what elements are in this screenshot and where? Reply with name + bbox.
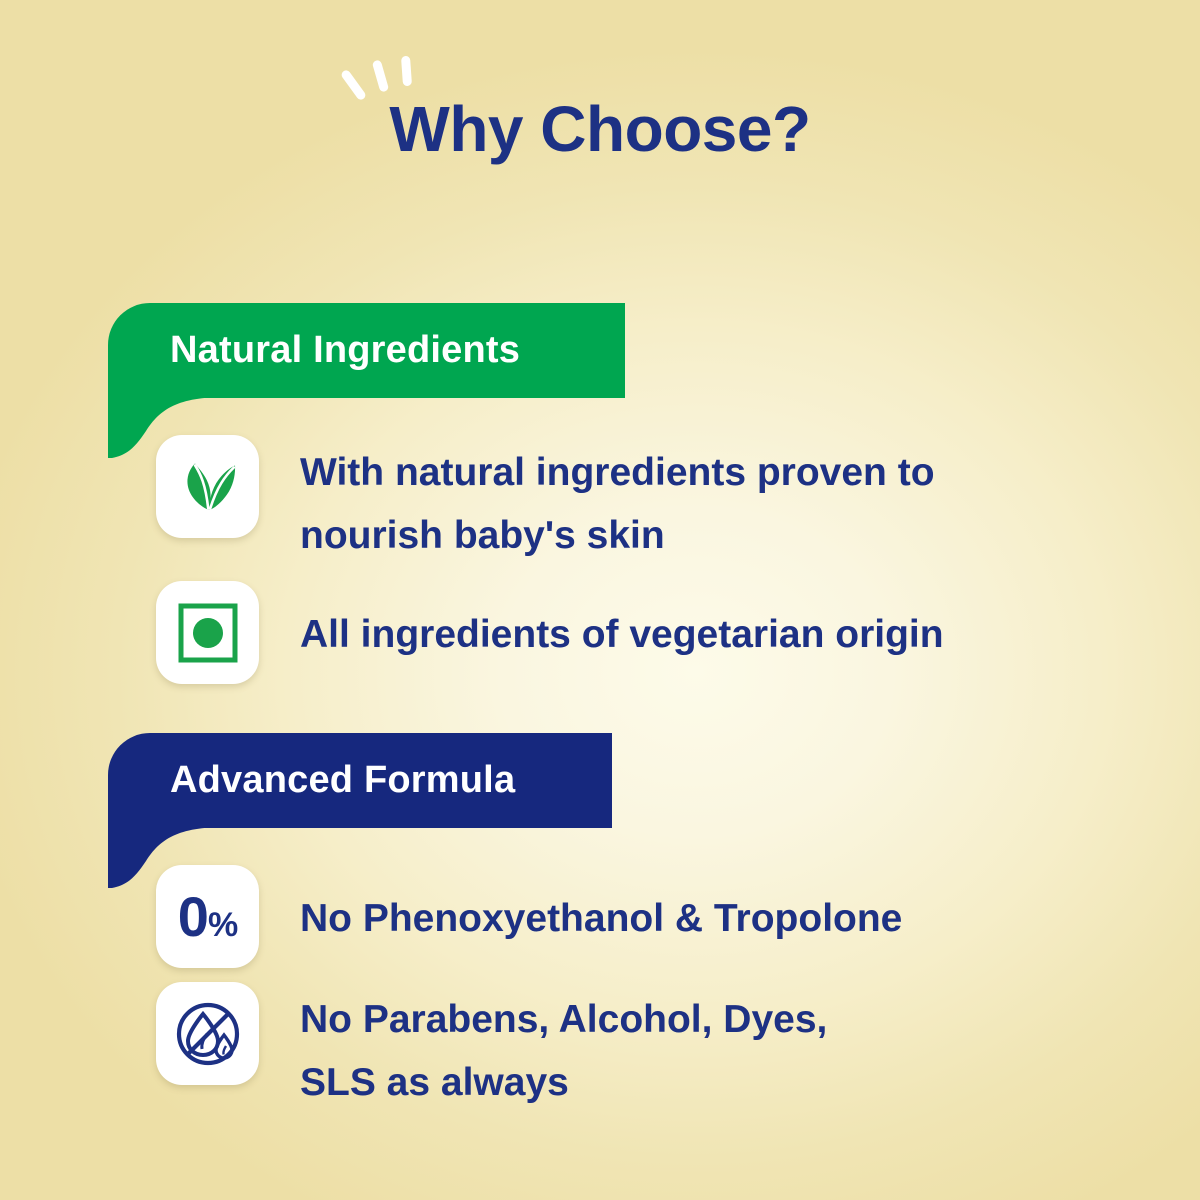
zero-percent-text: 0% [178, 889, 237, 945]
feature-list-advanced: 0% No Phenoxyethanol & Tropolone [0, 865, 1200, 1128]
page-title-text: Why Choose? [389, 93, 810, 165]
sparkle-dash-3 [401, 56, 412, 87]
feature-row: No Parabens, Alcohol, Dyes, SLS as alway… [0, 982, 1200, 1114]
feature-text-line-1: No Phenoxyethanol & Tropolone [300, 887, 1090, 950]
feature-text: With natural ingredients proven to nouri… [300, 435, 1090, 567]
page-title: Why Choose? [389, 96, 810, 163]
no-water-drops-icon [156, 982, 259, 1085]
sparkle-dash-1 [340, 69, 367, 102]
title-block: Why Choose? [0, 96, 1200, 163]
percent-sign: % [208, 906, 237, 944]
zero-digit: 0 [178, 885, 208, 948]
feature-row: With natural ingredients proven to nouri… [0, 435, 1200, 567]
zero-percent-icon: 0% [156, 865, 259, 968]
banner-label: Natural Ingredients [108, 329, 520, 372]
banner-natural-ingredients: Natural Ingredients [0, 303, 1200, 398]
banner-body: Natural Ingredients [108, 303, 625, 398]
feature-list-natural: With natural ingredients proven to nouri… [0, 435, 1200, 698]
section-natural-ingredients: Natural Ingredients [0, 303, 1200, 398]
sparkle-dash-2 [372, 59, 389, 92]
feature-text: All ingredients of vegetarian origin [300, 581, 1090, 666]
section-advanced-formula: Advanced Formula 0% No Phenoxyethanol & … [0, 733, 1200, 828]
feature-text-line-1: No Parabens, Alcohol, Dyes, [300, 988, 1090, 1051]
two-leaves-icon [156, 435, 259, 538]
feature-row: All ingredients of vegetarian origin [0, 581, 1200, 684]
vegetarian-mark-icon [156, 581, 259, 684]
feature-text-line-1: All ingredients of vegetarian origin [300, 603, 1090, 666]
feature-text-line-1: With natural ingredients proven to [300, 441, 1090, 504]
banner-advanced-formula: Advanced Formula [0, 733, 1200, 828]
banner-body: Advanced Formula [108, 733, 612, 828]
feature-row: 0% No Phenoxyethanol & Tropolone [0, 865, 1200, 968]
feature-text: No Phenoxyethanol & Tropolone [300, 865, 1090, 950]
feature-text: No Parabens, Alcohol, Dyes, SLS as alway… [300, 982, 1090, 1114]
feature-text-line-2: SLS as always [300, 1051, 1090, 1114]
feature-text-line-2: nourish baby's skin [300, 504, 1090, 567]
banner-label: Advanced Formula [108, 759, 515, 802]
infographic-canvas: Why Choose? Natural Ingredients [0, 0, 1200, 1200]
sparkle-icon [345, 56, 435, 104]
